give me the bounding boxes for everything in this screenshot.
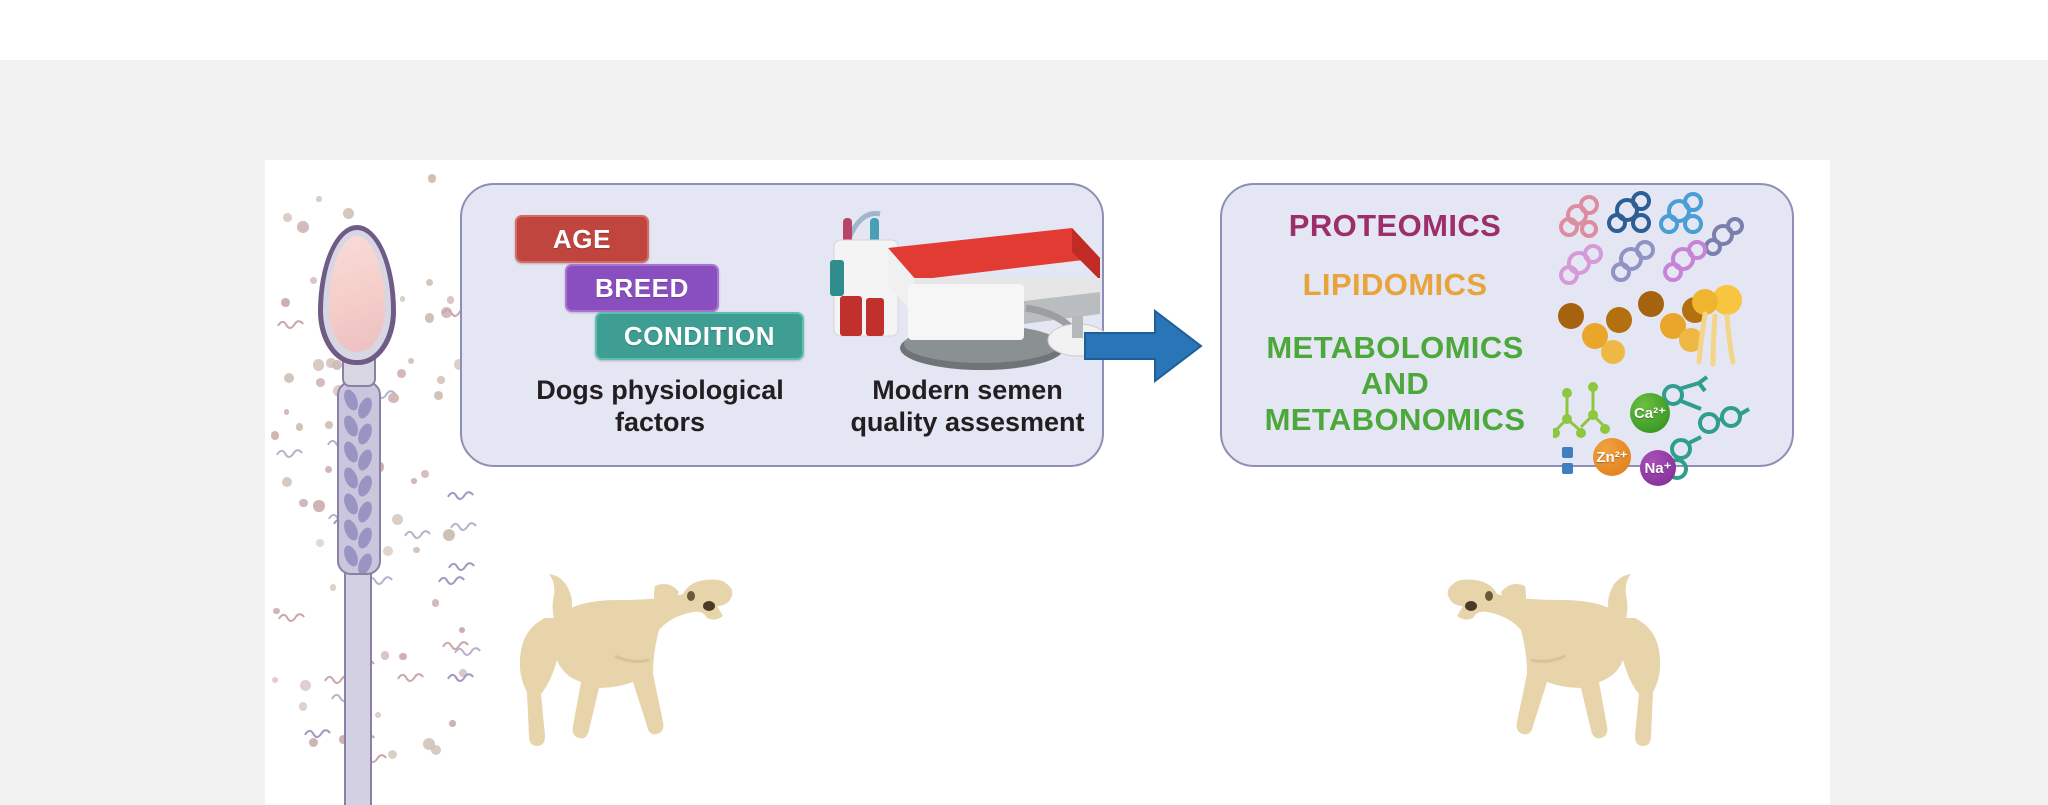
instrument-caption-line-2: quality assesment: [835, 407, 1100, 439]
sperm-mitochondrion: [355, 396, 374, 421]
top-white-strip: [0, 0, 2048, 60]
omics-label-metabonomics: METABONOMICS: [1240, 402, 1550, 438]
particle-dot: [284, 409, 290, 415]
badge-breed[interactable]: BREED: [565, 264, 719, 312]
particle-dot: [281, 298, 290, 307]
instrument-caption-line-1: Modern semen: [835, 375, 1100, 407]
dog-right: [1445, 560, 1685, 750]
figure-canvas: AGE BREED CONDITION Dogs physiological f…: [265, 160, 1830, 805]
ion-sodium: Na⁺: [1640, 450, 1676, 486]
particle-dot: [421, 470, 429, 478]
particle-squiggle: [447, 489, 475, 501]
particle-dot: [423, 738, 435, 750]
particle-squiggle: [450, 520, 478, 532]
particle-dot: [432, 599, 439, 606]
particle-dot: [426, 279, 433, 286]
omics-label-lipidomics: LIPIDOMICS: [1250, 267, 1540, 303]
physiological-factors-caption: Dogs physiological factors: [495, 375, 825, 439]
protein-molecules-icon: [1555, 185, 1745, 290]
semen-analyzer-instrument: [810, 188, 1110, 373]
particle-dot: [316, 196, 321, 201]
sperm-mitochondrion: [355, 552, 374, 575]
sperm-midpiece: [337, 381, 381, 575]
particle-dot: [437, 376, 444, 383]
particle-squiggle: [448, 560, 476, 572]
lipid-molecules-icon: [1555, 280, 1745, 380]
omics-label-metabolomics-line1: METABOLOMICS: [1240, 330, 1550, 366]
omics-label-proteomics: PROTEOMICS: [1250, 208, 1540, 244]
particle-dot: [459, 627, 465, 633]
particle-dot: [434, 391, 443, 400]
particle-dot: [272, 677, 278, 683]
dog-left: [495, 560, 735, 750]
omics-label-and: AND: [1240, 366, 1550, 402]
particle-squiggle: [438, 574, 466, 586]
particle-dot: [447, 296, 454, 303]
spermatozoon-illustration: [290, 215, 420, 805]
particle-dot: [271, 431, 279, 439]
sperm-mitochondrion: [355, 448, 374, 473]
graphical-abstract-stage: AGE BREED CONDITION Dogs physiological f…: [0, 0, 2048, 805]
particle-dot: [449, 720, 455, 726]
sperm-mitochondrion: [355, 500, 374, 525]
sperm-mitochondrion: [355, 526, 374, 551]
sperm-tail: [344, 565, 372, 805]
ion-zinc: Zn²⁺: [1593, 438, 1631, 476]
badge-condition[interactable]: CONDITION: [595, 312, 804, 360]
sperm-mitochondrion: [355, 422, 374, 447]
caption-line-1: Dogs physiological: [495, 375, 825, 407]
badge-age[interactable]: AGE: [515, 215, 649, 263]
sperm-mitochondrion: [355, 474, 374, 499]
particle-dot: [425, 313, 435, 323]
particle-dot: [428, 174, 437, 183]
omics-label-metabolomics: METABOLOMICS AND METABONOMICS: [1240, 330, 1550, 438]
particle-squiggle: [454, 645, 482, 657]
instrument-caption: Modern semen quality assesment: [835, 375, 1100, 439]
flow-arrow-icon: [1083, 303, 1205, 389]
ion-calcium: Ca²⁺: [1630, 393, 1670, 433]
particle-squiggle: [447, 671, 475, 683]
caption-line-2: factors: [495, 407, 825, 439]
